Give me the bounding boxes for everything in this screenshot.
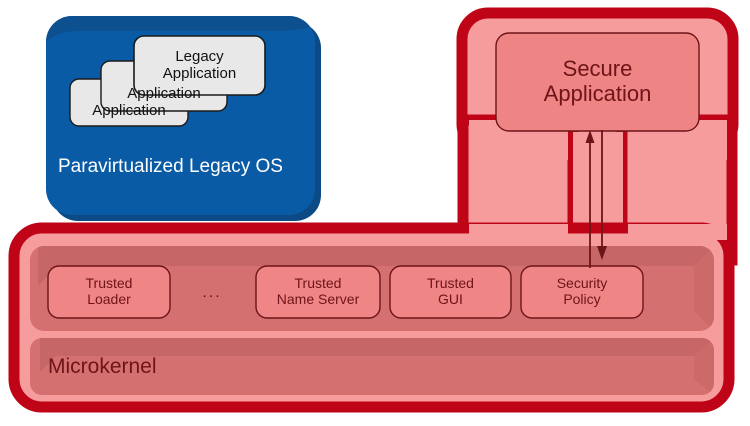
service-box-trusted-gui[interactable] bbox=[390, 266, 511, 318]
service-box-trusted-loader[interactable] bbox=[48, 266, 170, 318]
architecture-diagram bbox=[0, 0, 750, 426]
legacy-application-box-1 bbox=[134, 36, 265, 95]
service-box-security-policy[interactable] bbox=[521, 266, 643, 318]
diagram-canvas: Legacy Application Legacy Application Le… bbox=[0, 0, 750, 426]
service-box-trusted-name-server[interactable] bbox=[256, 266, 380, 318]
secure-application-box bbox=[496, 33, 699, 131]
microkernel-band bbox=[30, 338, 714, 395]
